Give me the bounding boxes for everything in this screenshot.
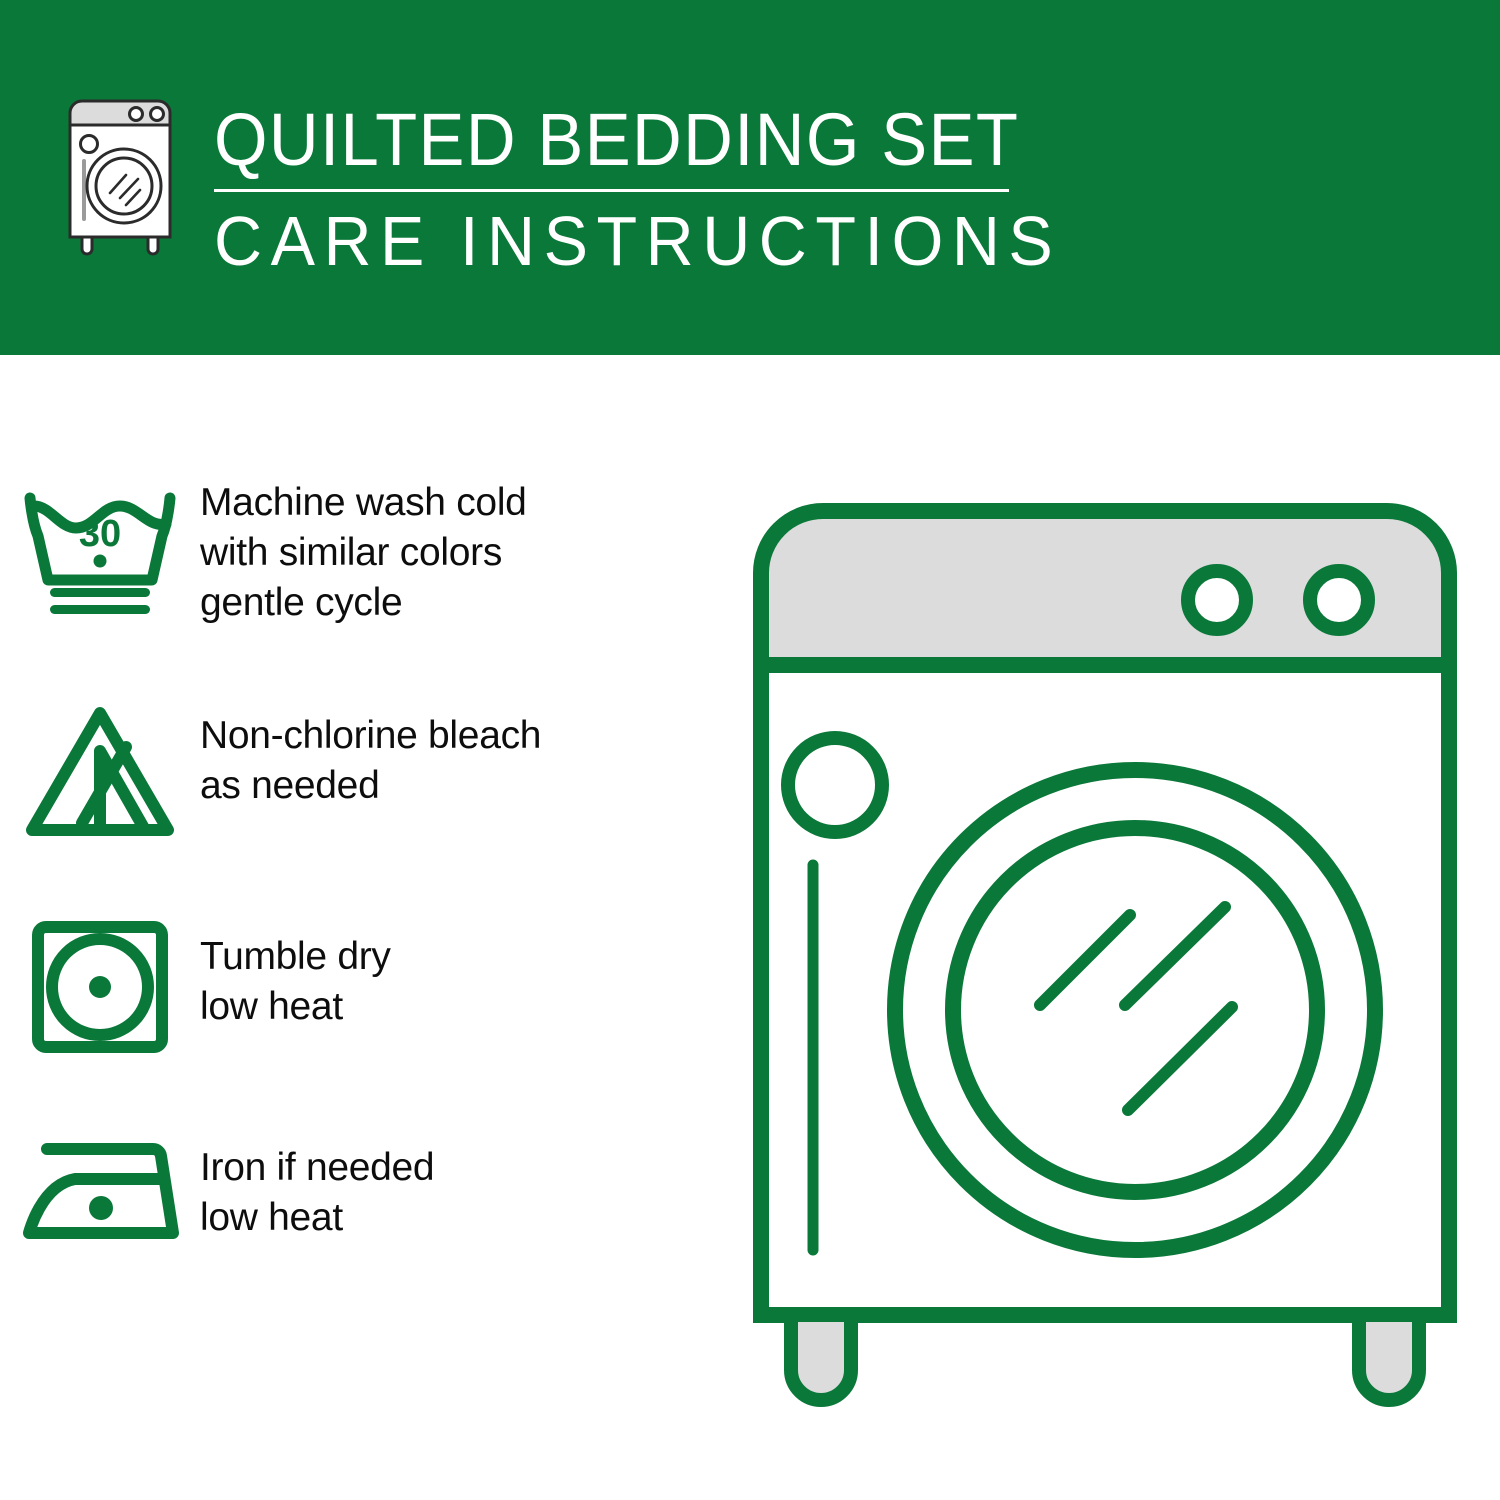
care-symbol-slot (0, 685, 200, 844)
bleach-triangle-icon (16, 699, 184, 844)
care-label-bleach: Non-chlorine bleach as needed (200, 685, 720, 811)
care-label-line: as needed (200, 761, 720, 811)
header-text-block: QUILTED BEDDING SET CARE INSTRUCTIONS (214, 95, 1106, 278)
care-symbol-slot: 30 (0, 470, 200, 624)
leg-right (1359, 1315, 1419, 1400)
care-label-line: low heat (200, 982, 720, 1032)
leg-left (791, 1315, 851, 1400)
washing-machine-icon (60, 95, 188, 260)
care-label-line: with similar colors (200, 528, 720, 578)
care-label-iron: Iron if needed low heat (200, 1115, 720, 1243)
care-instruction-list: 30 Machine wash cold with similar colors… (0, 470, 720, 1330)
detergent-drawer-knob[interactable] (788, 738, 882, 832)
control-knob-right[interactable] (1310, 571, 1368, 629)
care-label-tumble-dry: Tumble dry low heat (200, 900, 720, 1032)
care-symbol-slot (0, 900, 200, 1059)
care-label-line: Machine wash cold (200, 478, 720, 528)
care-row-iron: Iron if needed low heat (0, 1115, 720, 1330)
care-label-line: Non-chlorine bleach (200, 711, 720, 761)
care-row-bleach: Non-chlorine bleach as needed (0, 685, 720, 900)
wash-tub-30-icon: 30 (16, 484, 184, 624)
care-label-line: Tumble dry (200, 932, 720, 982)
front-load-washing-machine-illustration (745, 495, 1465, 1425)
care-label-machine-wash: Machine wash cold with similar colors ge… (200, 470, 720, 628)
header-band: QUILTED BEDDING SET CARE INSTRUCTIONS (0, 0, 1500, 355)
care-label-line: low heat (200, 1193, 720, 1243)
door-inner-ring (953, 828, 1317, 1192)
care-instructions-page: QUILTED BEDDING SET CARE INSTRUCTIONS 30 (0, 0, 1500, 1500)
tumble-dry-low-icon (25, 914, 175, 1059)
page-subtitle: CARE INSTRUCTIONS (214, 204, 1061, 278)
page-title: QUILTED BEDDING SET (214, 101, 1044, 179)
care-row-machine-wash: 30 Machine wash cold with similar colors… (0, 470, 720, 685)
title-divider (214, 189, 1009, 192)
care-symbol-slot (0, 1115, 200, 1259)
wash-temperature-value: 30 (79, 513, 121, 555)
control-knob-left[interactable] (1188, 571, 1246, 629)
care-row-tumble-dry: Tumble dry low heat (0, 900, 720, 1115)
header-content: QUILTED BEDDING SET CARE INSTRUCTIONS (60, 95, 1106, 278)
care-label-line: Iron if needed (200, 1143, 720, 1193)
iron-low-heat-icon (13, 1129, 188, 1259)
care-label-line: gentle cycle (200, 578, 720, 628)
